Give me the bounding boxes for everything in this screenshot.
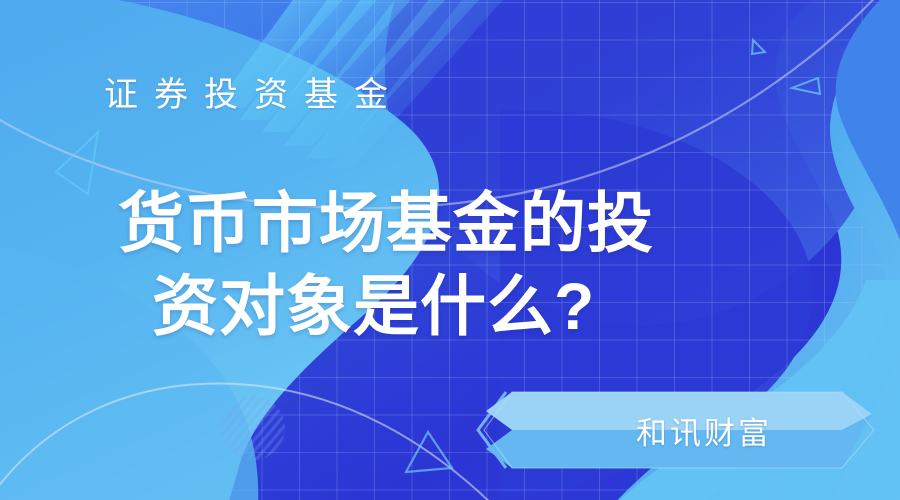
poster-canvas: 证券投资基金 货币市场基金的投 资对象是什么? 和讯财富 bbox=[0, 0, 900, 500]
headline-line-1: 货币市场基金的投 bbox=[118, 182, 758, 265]
ribbon-brand-label: 和讯财富 bbox=[470, 388, 900, 472]
triangle-outline-small-upper bbox=[752, 40, 765, 54]
poster-subtitle: 证券投资基金 bbox=[104, 78, 404, 112]
triangle-outline-small-lower bbox=[792, 78, 820, 94]
headline-line-2: 资对象是什么? bbox=[118, 265, 758, 348]
ribbon-container: 和讯财富 bbox=[470, 388, 900, 472]
striped-circle bbox=[221, 396, 285, 460]
poster-headline: 货币市场基金的投 资对象是什么? bbox=[118, 182, 758, 347]
